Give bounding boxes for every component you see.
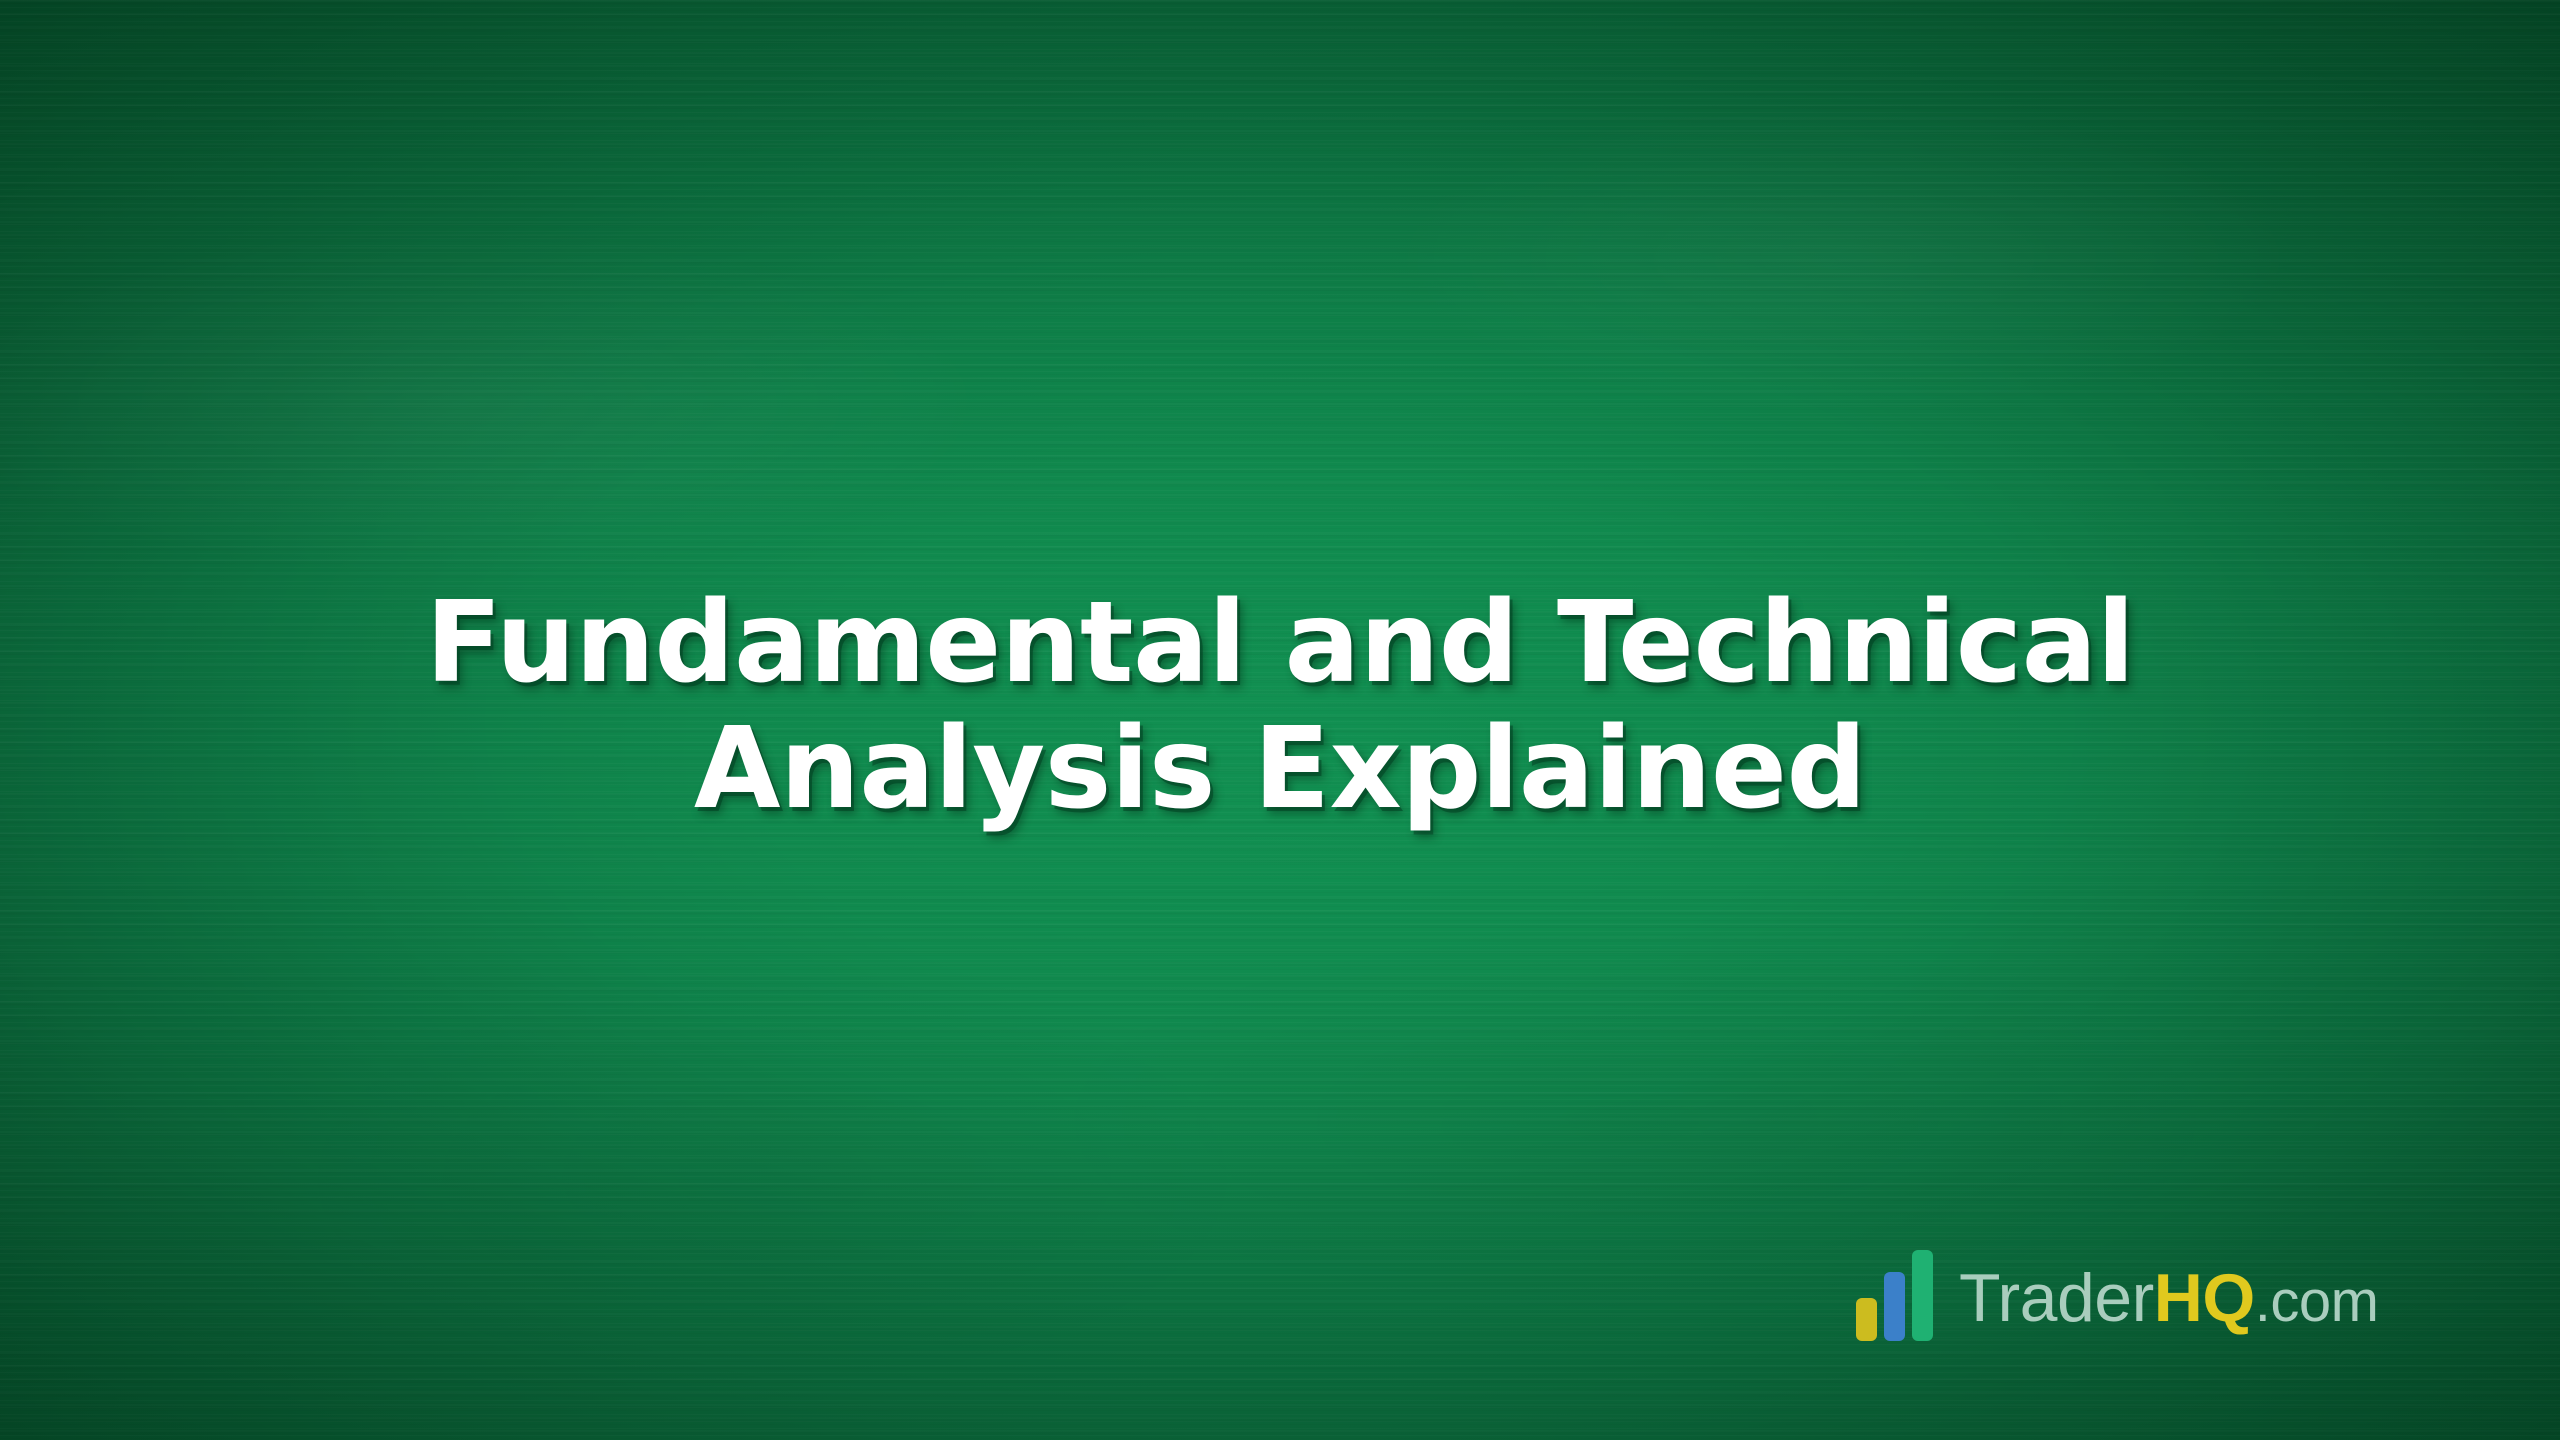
bar-chart-icon (1856, 1249, 1933, 1341)
logo-word-trader: Trader (1959, 1260, 2154, 1336)
bar-green (1912, 1250, 1933, 1341)
bar-yellow (1856, 1298, 1877, 1341)
logo-word-hq: HQ (2154, 1260, 2255, 1336)
slide-canvas: Fundamental and Technical Analysis Expla… (0, 0, 2560, 1440)
bar-blue (1884, 1272, 1905, 1341)
background-gradient (0, 0, 2560, 1440)
logo-wordmark: TraderHQ.com (1959, 1264, 2378, 1336)
traderhq-logo[interactable]: TraderHQ.com (1856, 1252, 2378, 1344)
logo-word-com: .com (2255, 1269, 2379, 1334)
